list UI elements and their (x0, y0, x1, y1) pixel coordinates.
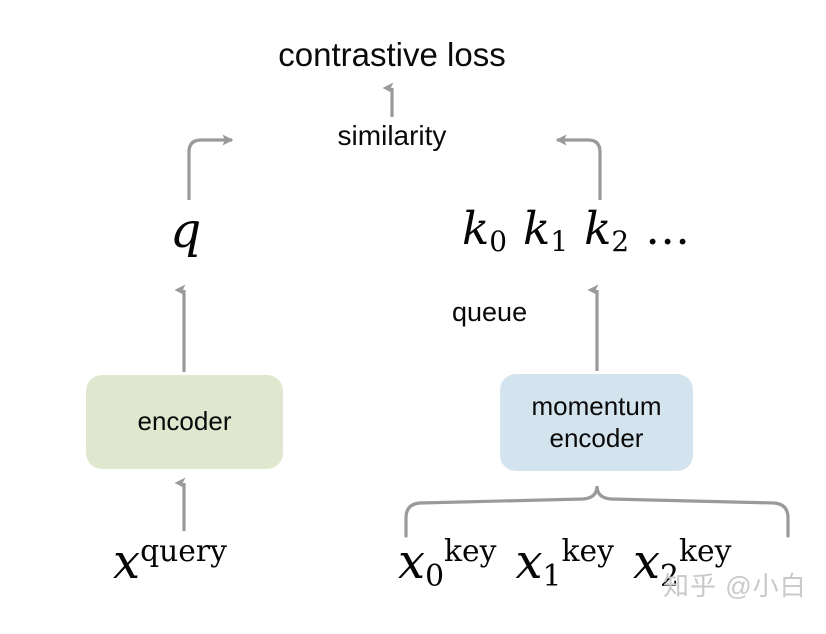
momentum-encoder-box-label: momentum encoder (531, 391, 661, 454)
query-symbol: q (170, 206, 201, 255)
key-symbol-0: k0 (462, 202, 507, 255)
figure-canvas: contrastive loss similarity q k0k1k2… qu… (0, 0, 826, 634)
similarity-label: similarity (0, 122, 784, 150)
key-symbol-2-base: k (584, 202, 611, 255)
queue-label: queue (452, 299, 527, 326)
x-key-symbol-0: x0key (398, 534, 496, 590)
x-key-symbol-2-base: x (633, 534, 660, 590)
x-key-symbol-0-subscript: 0 (425, 559, 444, 594)
encoder-box-label: encoder (138, 406, 232, 438)
key-symbol-0-base: k (462, 202, 489, 255)
x-query-superscript: query (140, 534, 227, 569)
momentum-encoder-line-1: momentum (531, 391, 661, 421)
x-key-symbol-0-base: x (398, 534, 425, 590)
x-key-symbol-0-superscript: key (444, 534, 496, 569)
x-key-symbol-1-superscript: key (561, 534, 613, 569)
x-key-symbol-2-superscript: key (679, 534, 731, 569)
brace-key-inputs (406, 486, 788, 536)
x-key-symbol-1-subscript: 1 (543, 559, 562, 594)
x-key-symbol-1: x1key (515, 534, 613, 590)
x-query-symbol: xquery (113, 538, 227, 586)
x-key-symbol-1-base: x (515, 534, 542, 590)
watermark: 知乎 @小白 (663, 566, 807, 603)
x-query-base: x (113, 534, 140, 590)
key-symbol-2-subscript: 2 (611, 225, 629, 258)
key-symbols-ellipsis: … (645, 202, 691, 255)
key-symbol-1-base: k (523, 202, 550, 255)
key-symbols: k0k1k2… (462, 206, 691, 251)
momentum-encoder-box[interactable]: momentum encoder (500, 374, 693, 471)
momentum-encoder-line-2: encoder (550, 423, 644, 453)
key-symbol-0-subscript: 0 (489, 225, 507, 258)
key-symbol-1: k1 (523, 202, 568, 255)
key-symbol-2: k2 (584, 202, 629, 255)
contrastive-loss-label: contrastive loss (0, 38, 784, 71)
encoder-box[interactable]: encoder (86, 375, 283, 469)
key-symbol-1-subscript: 1 (550, 225, 568, 258)
query-symbol-base: q (170, 202, 201, 259)
